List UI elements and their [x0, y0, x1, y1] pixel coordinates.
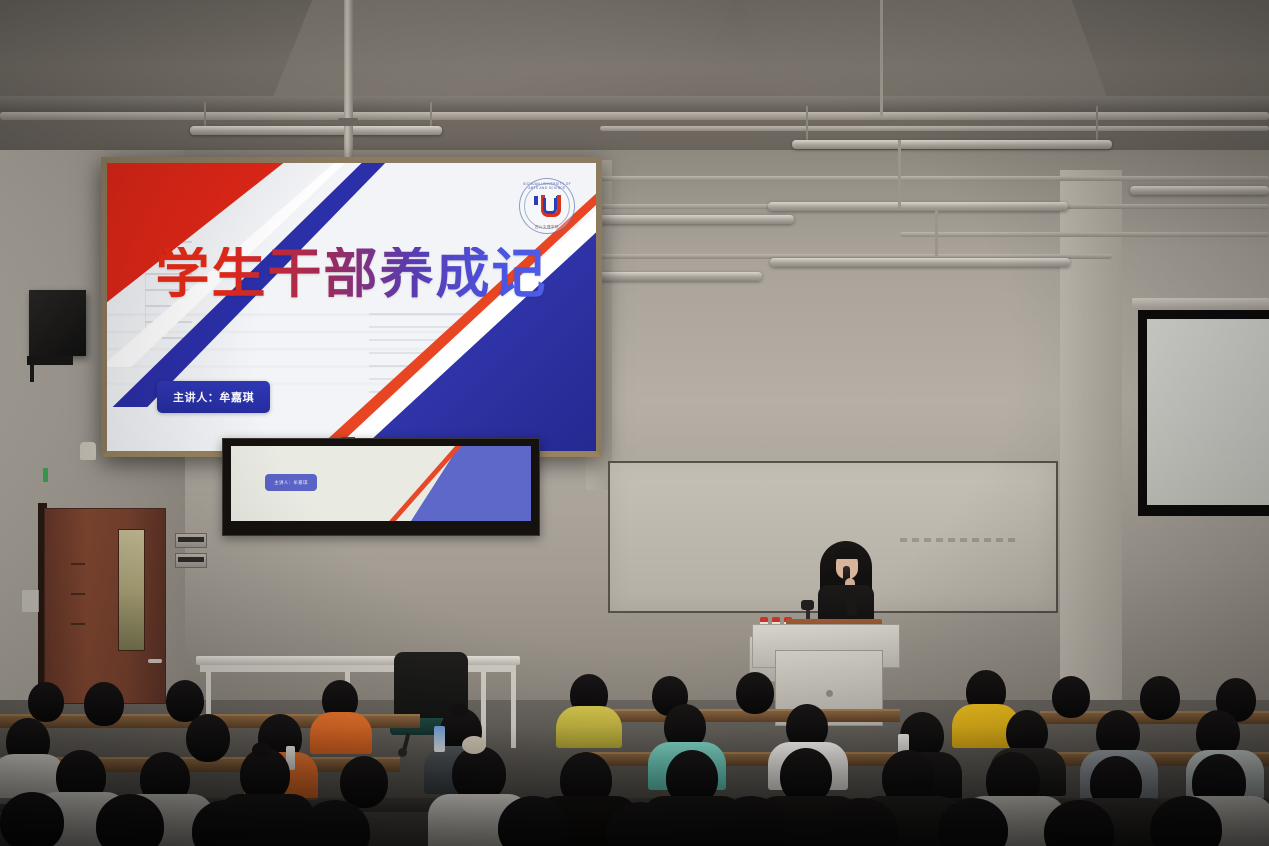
ceiling-pipe-right — [900, 232, 1269, 237]
desk-row — [580, 752, 910, 766]
university-seal-logo: SICHUAN UNIVERSITY OF ARTS AND SCIENCE 四… — [519, 178, 575, 234]
ceiling-light-tube — [770, 258, 1070, 267]
door-groove — [71, 563, 85, 565]
audience-head — [28, 682, 64, 722]
panel-slot — [178, 557, 204, 562]
presentation-slide: SICHUAN UNIVERSITY OF ARTS AND SCIENCE 四… — [107, 163, 596, 451]
ceiling-beam-horizontal — [0, 96, 1269, 112]
ceiling-cable — [880, 0, 883, 116]
ceiling-light-tube — [792, 140, 1112, 149]
water-bottle-cap — [772, 617, 780, 622]
ceiling-pipe-secondary — [600, 126, 1269, 131]
chair-wheel — [398, 748, 407, 757]
classroom-door[interactable] — [44, 508, 166, 704]
slide-title: 学生干部养成记 — [107, 247, 596, 301]
light-hanger — [1096, 106, 1098, 141]
audience-head — [1052, 676, 1090, 718]
wall-mounted-speaker — [29, 290, 86, 356]
light-hanger — [204, 102, 206, 128]
seal-text-top: SICHUAN UNIVERSITY OF ARTS AND SCIENCE — [519, 182, 575, 190]
wall-control-panel-upper[interactable] — [175, 533, 207, 548]
table-leg — [511, 672, 516, 748]
water-bottle-cap — [760, 617, 768, 622]
projected-slide-blue-corner — [411, 446, 531, 521]
door-groove — [71, 623, 85, 625]
ceiling-light-tube — [592, 272, 762, 281]
ceiling-pipe-lower-right — [588, 176, 1269, 181]
projected-slide-speaker-badge: 主讲人：牟嘉琪 — [265, 474, 317, 491]
audience-hair-bun — [450, 704, 468, 718]
podium-knob — [826, 690, 833, 697]
audience-head — [1140, 676, 1180, 720]
seal-emblem — [534, 195, 560, 217]
wall-column-right — [1060, 170, 1122, 710]
ceiling-light-tube — [594, 215, 794, 224]
right-projection-screen — [1138, 310, 1269, 516]
ceiling-pipe-main — [0, 112, 1269, 120]
lower-projection-screen-surface: 主讲人：牟嘉琪 — [231, 446, 531, 521]
whiteboard-faint-writing — [900, 538, 1020, 542]
audience-torso — [310, 712, 372, 754]
audience-head — [736, 672, 774, 714]
audience-head — [340, 756, 388, 808]
seal-u-inner — [543, 198, 557, 214]
ceiling-light-tube — [190, 126, 442, 135]
projected-speaker-label: 主讲人：牟嘉琪 — [265, 474, 317, 491]
audience-head — [186, 714, 230, 762]
tv-ceiling-mount-pole — [344, 0, 353, 172]
seal-text-bottom: 四川文理学院 — [519, 224, 575, 229]
right-projection-screen-surface — [1147, 319, 1269, 505]
speaker-mount-arm — [30, 364, 34, 382]
lower-projection-screen: 主讲人：牟嘉琪 — [222, 438, 540, 536]
projection-screen-roller — [1132, 298, 1269, 309]
ceiling-cable — [935, 210, 938, 256]
wall-sensor — [80, 442, 96, 460]
wall-notice-paper — [22, 590, 39, 612]
audience-hair-bun — [252, 742, 272, 758]
wall-control-panel-lower[interactable] — [175, 553, 207, 568]
door-groove — [71, 593, 85, 595]
ceiling-cable — [898, 140, 901, 210]
lecture-hall-photo: SICHUAN UNIVERSITY OF ARTS AND SCIENCE 四… — [0, 0, 1269, 846]
tv-mount-bracket — [338, 118, 358, 126]
table-leg — [481, 672, 486, 748]
light-hanger — [806, 106, 808, 141]
handheld-phone — [434, 726, 445, 752]
microphone-stand-head — [801, 600, 814, 610]
folding-table-apron — [200, 665, 516, 672]
ceiling-beam-diagonal-right — [738, 0, 1112, 110]
audience-head-foreground — [0, 792, 64, 846]
audience-torso — [556, 706, 622, 748]
presenter-fringe — [834, 548, 860, 559]
panel-slot — [178, 537, 204, 542]
door-glass-panel — [118, 529, 145, 651]
audience-hair-accessory — [462, 736, 486, 754]
light-hanger — [430, 102, 432, 128]
wall-switch-indicator — [43, 468, 48, 482]
seal-bar-left — [534, 196, 538, 205]
folding-table — [196, 656, 520, 665]
slide-speaker-badge: 主讲人：牟嘉琪 — [157, 381, 270, 413]
ceiling-light-tube — [768, 202, 1068, 211]
door-handle[interactable] — [148, 659, 162, 663]
wall-mounted-tv[interactable]: SICHUAN UNIVERSITY OF ARTS AND SCIENCE 四… — [101, 157, 602, 457]
audience-head — [84, 682, 124, 726]
ceiling-light-tube — [1130, 186, 1269, 195]
